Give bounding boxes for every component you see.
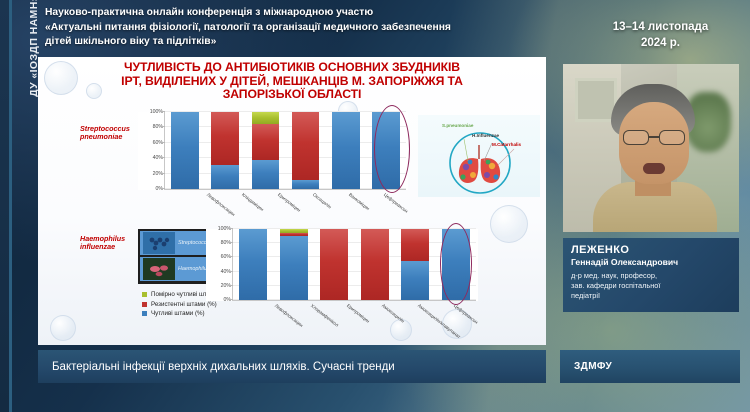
- bar-column[interactable]: [332, 112, 360, 189]
- speaker-title: д-р мед. наук, професор, зав. кафедри го…: [571, 271, 731, 301]
- presentation-slide[interactable]: ЧУТЛИВІСТЬ ДО АНТИБІОТИКІВ ОСНОВНИХ ЗБУД…: [38, 57, 546, 345]
- lung-label-2: M.Catarrhalis: [492, 142, 521, 147]
- chart1-y-tick: 60%: [153, 140, 163, 146]
- bar-segment: [239, 229, 267, 300]
- topic-text: Бактеріальні інфекції верхніх дихальних …: [52, 361, 395, 373]
- x-axis-label: Левофлоксацин: [274, 303, 304, 328]
- bar-segment: [320, 229, 348, 300]
- speaker-info-card: ЛЕЖЕНКО Геннадій Олександрович д-р мед. …: [563, 238, 739, 312]
- chart1-y-tick: 0%: [156, 186, 164, 192]
- left-edge-stripe: [0, 0, 9, 412]
- bar-column[interactable]: [171, 112, 199, 189]
- x-axis-label: Цефтриаксон: [383, 192, 409, 214]
- streptococcus-micrograph: [143, 232, 175, 254]
- chart2-y-tick: 0%: [224, 297, 232, 303]
- left-edge-accent: [9, 0, 12, 412]
- conference-line-2: «Актуальні питання фізіології, патології…: [45, 21, 545, 36]
- bar-segment: [361, 229, 389, 300]
- x-axis-label: Еритроміцин: [345, 303, 370, 324]
- x-axis-label: Оксацилін: [312, 192, 332, 209]
- lung-label-1: H.Influenzae: [472, 133, 499, 138]
- legend-label: Резистентні штами (%): [151, 301, 217, 308]
- legend-item: Резистентні штами (%): [142, 301, 229, 308]
- conference-line-1: Науково-практична онлайн конференція з м…: [45, 6, 545, 21]
- chart1-y-tick: 20%: [153, 171, 163, 177]
- x-axis-label: Цефтриаксон: [453, 303, 479, 325]
- legend-swatch: [142, 302, 147, 307]
- speaker-given-name: Геннадій Олександрович: [571, 257, 731, 267]
- bar-column[interactable]: [361, 229, 389, 300]
- x-axis-label: Амоксицилін: [381, 303, 405, 324]
- chart2-y-tick: 40%: [221, 269, 231, 275]
- lungs-icon: [418, 115, 540, 197]
- conference-date-line-1: 13–14 листопада: [578, 20, 743, 36]
- affiliation-text: ЗДМФУ: [574, 361, 612, 372]
- affiliation-bar: ЗДМФУ: [560, 350, 740, 383]
- bar-column[interactable]: [239, 229, 267, 300]
- bar-segment: [252, 124, 280, 160]
- topic-bar: Бактеріальні інфекції верхніх дихальних …: [38, 350, 546, 383]
- chart1-bars: [165, 112, 406, 189]
- conference-date: 13–14 листопада 2024 р.: [578, 20, 743, 51]
- bar-segment: [401, 229, 429, 261]
- bar-column[interactable]: [211, 112, 239, 189]
- legend-swatch: [142, 292, 147, 297]
- lung-label-0: S.pneumoniae: [442, 123, 473, 128]
- x-axis-label: Ванкоміцин: [348, 192, 371, 211]
- x-axis-label: Еритроміцин: [277, 192, 302, 213]
- chart2-x-axis-labels: ЛевофлоксацинХлорамфеніколЕритроміцинАмо…: [259, 300, 474, 345]
- bar-segment: [211, 112, 239, 165]
- conference-header: Науково-практична онлайн конференція з м…: [45, 6, 545, 50]
- speaker-glasses-bridge: [649, 136, 659, 138]
- chart1-y-tick: 40%: [153, 155, 163, 161]
- bar-column[interactable]: [320, 229, 348, 300]
- bar-segment: [280, 236, 308, 300]
- chart1-y-tick: 100%: [150, 109, 163, 115]
- species-label-haemophilus: Haemophilus influenzae: [80, 235, 142, 252]
- chart1-plot-area: 0%20%40%60%80%100% ЛевофлоксацинКліндамі…: [164, 112, 406, 190]
- speaker-mouth: [643, 163, 665, 174]
- bar-segment: [292, 180, 320, 189]
- highlight-ellipse-chart1: [374, 105, 410, 193]
- x-axis-label: Кліндаміцин: [241, 192, 265, 212]
- bar-segment: [211, 165, 239, 189]
- legend-swatch: [142, 311, 147, 316]
- legend-label: Чутливі штами (%): [151, 310, 205, 317]
- bar-segment: [401, 261, 429, 300]
- speaker-surname: ЛЕЖЕНКО: [571, 244, 731, 256]
- slide-title: ЧУТЛИВІСТЬ ДО АНТИБІОТИКІВ ОСНОВНИХ ЗБУД…: [54, 61, 530, 102]
- highlight-ellipse-chart2: [440, 223, 472, 305]
- x-axis-label: Левофлоксацин: [206, 192, 236, 217]
- bar-column[interactable]: [401, 229, 429, 300]
- bar-segment: [332, 112, 360, 189]
- legend-item: Чутливі штами (%): [142, 310, 229, 317]
- bar-segment: [171, 112, 199, 189]
- bar-column[interactable]: [252, 112, 280, 189]
- bar-column[interactable]: [280, 229, 308, 300]
- haemophilus-micrograph: [143, 258, 175, 280]
- lung-infection-illustration: S.pneumoniae H.Influenzae M.Catarrhalis: [418, 115, 540, 197]
- bar-column[interactable]: [292, 112, 320, 189]
- bar-segment: [252, 160, 280, 189]
- chart2-y-tick: 20%: [221, 283, 231, 289]
- bar-segment: [252, 112, 280, 124]
- bar-segment: [292, 112, 320, 180]
- chart2-y-tick: 60%: [221, 254, 231, 260]
- slide-title-line-1: ЧУТЛИВІСТЬ ДО АНТИБІОТИКІВ ОСНОВНИХ ЗБУД…: [54, 61, 530, 75]
- conference-line-3: дітей шкільного віку та підлітків»: [45, 35, 545, 50]
- chart-haemophilus-influenzae[interactable]: 0%20%40%60%80%100% ЛевофлоксацинХлорамфе…: [206, 229, 478, 301]
- speaker-video-feed[interactable]: [563, 64, 739, 232]
- speaker-glasses-left: [623, 130, 649, 145]
- species-label-streptococcus: Streptococcus pneumoniae: [80, 125, 142, 142]
- chart2-y-tick: 100%: [218, 226, 231, 232]
- conference-date-line-2: 2024 р.: [578, 36, 743, 52]
- chart-streptococcus-pneumoniae[interactable]: 0%20%40%60%80%100% ЛевофлоксацинКліндамі…: [138, 112, 408, 190]
- chart1-y-tick: 80%: [153, 124, 163, 130]
- chart2-y-tick: 80%: [221, 240, 231, 246]
- slide-title-line-3: ЗАПОРІЗЬКОЇ ОБЛАСТІ: [54, 88, 530, 102]
- x-axis-label: Хлорамфенікол: [310, 303, 340, 328]
- speaker-glasses-right: [659, 130, 685, 145]
